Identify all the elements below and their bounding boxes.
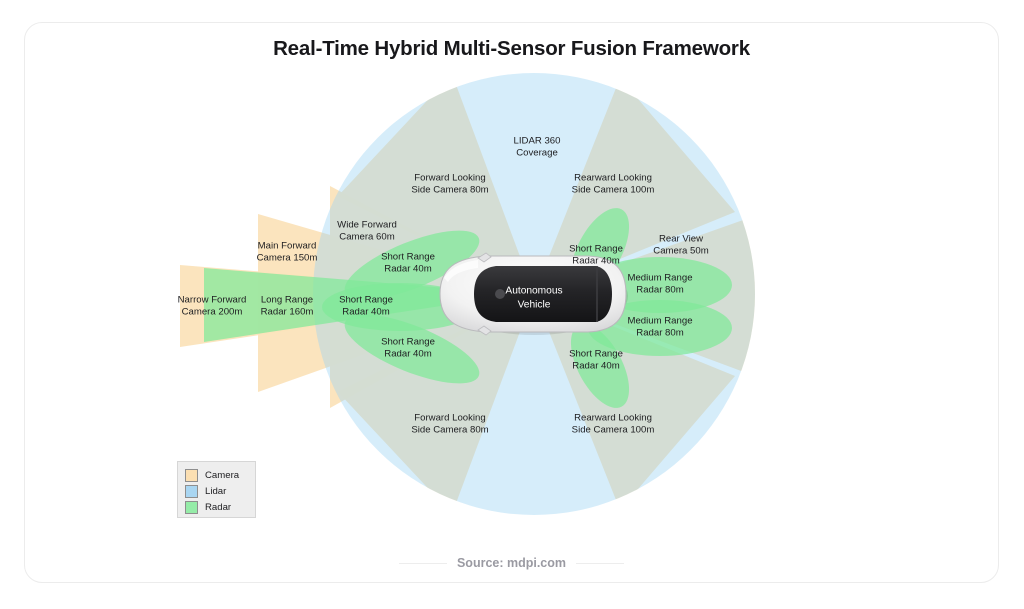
legend-label-radar: Radar <box>205 501 231 514</box>
legend: CameraLidarRadar <box>177 461 256 518</box>
coverage-label-rear-view-camera: Rear View Camera 50m <box>653 234 708 259</box>
source-label: Source: mdpi.com <box>457 556 566 570</box>
coverage-label-wide-forward-camera: Wide Forward Camera 60m <box>337 220 397 245</box>
legend-label-camera: Camera <box>205 469 239 482</box>
legend-label-lidar: Lidar <box>205 485 226 498</box>
coverage-label-short-range-radar-bl: Short Range Radar 40m <box>381 337 435 362</box>
coverage-label-lidar-360: LIDAR 360 Coverage <box>514 136 561 161</box>
legend-swatch-radar <box>185 501 198 514</box>
vehicle-label: Autonomous Vehicle <box>505 285 562 312</box>
legend-item-radar[interactable]: Radar <box>185 500 248 515</box>
coverage-label-short-range-radar-rr-top: Short Range Radar 40m <box>569 244 623 269</box>
coverage-label-medium-range-radar-bot: Medium Range Radar 80m <box>627 316 692 341</box>
coverage-label-forward-side-camera-top: Forward Looking Side Camera 80m <box>411 173 488 198</box>
coverage-label-rearward-side-camera-top: Rearward Looking Side Camera 100m <box>572 173 655 198</box>
coverage-label-short-range-radar-fl: Short Range Radar 40m <box>381 252 435 277</box>
footer-rule-left <box>399 563 447 564</box>
coverage-label-medium-range-radar-top: Medium Range Radar 80m <box>627 273 692 298</box>
legend-swatch-lidar <box>185 485 198 498</box>
source-footer: Source: mdpi.com <box>25 556 998 570</box>
legend-item-lidar[interactable]: Lidar <box>185 484 248 499</box>
coverage-label-long-range-radar: Long Range Radar 160m <box>261 295 314 320</box>
legend-item-camera[interactable]: Camera <box>185 468 248 483</box>
coverage-label-narrow-forward-camera: Narrow Forward Camera 200m <box>178 295 247 320</box>
page-title: Real-Time Hybrid Multi-Sensor Fusion Fra… <box>25 37 998 61</box>
coverage-label-short-range-radar-front: Short Range Radar 40m <box>339 295 393 320</box>
coverage-label-main-forward-camera: Main Forward Camera 150m <box>257 241 318 266</box>
footer-rule-right <box>576 563 624 564</box>
coverage-label-rearward-side-camera-bot: Rearward Looking Side Camera 100m <box>572 413 655 438</box>
legend-swatch-camera <box>185 469 198 482</box>
coverage-label-forward-side-camera-bot: Forward Looking Side Camera 80m <box>411 413 488 438</box>
coverage-label-short-range-radar-rr-bot: Short Range Radar 40m <box>569 349 623 374</box>
